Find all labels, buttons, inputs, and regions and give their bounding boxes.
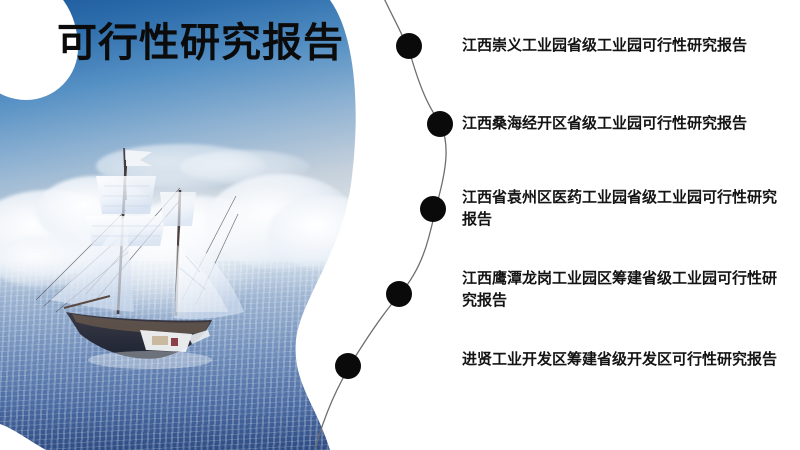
- list-item[interactable]: 江西崇义工业园省级工业园可行性研究报告: [462, 34, 798, 56]
- list-item[interactable]: 江西鹰潭龙岗工业园区筹建省级工业园可行性研究报告: [462, 267, 784, 311]
- slide-canvas: 可行性研究报告 江西崇义工业园省级工业园可行性研究报告 江西桑海经开区省级工业园…: [0, 0, 800, 450]
- bullet-dot[interactable]: [386, 281, 412, 307]
- list-item[interactable]: 进贤工业开发区筹建省级开发区可行性研究报告: [462, 348, 784, 370]
- bullet-dot[interactable]: [427, 111, 453, 137]
- page-title: 可行性研究报告: [57, 20, 344, 66]
- bullet-dot[interactable]: [420, 196, 446, 222]
- list-item[interactable]: 江西桑海经开区省级工业园可行性研究报告: [462, 112, 798, 134]
- bullet-dot[interactable]: [335, 353, 361, 379]
- list-item[interactable]: 江西省袁州区医药工业园省级工业园可行性研究报告: [462, 186, 782, 230]
- bullet-dot[interactable]: [396, 33, 422, 59]
